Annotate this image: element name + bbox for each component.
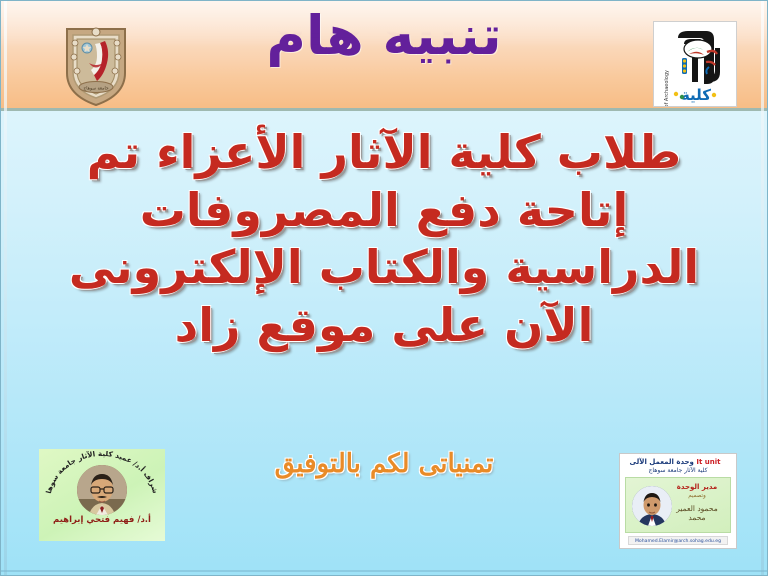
message-line: طلاب كلية الآثار الأعزاء تم xyxy=(19,127,749,179)
it-manager-subrole: وتصميم xyxy=(668,493,726,499)
page-title: تنبيه هام xyxy=(266,9,501,63)
dean-avatar xyxy=(77,465,127,515)
message-line: إتاحة دفع المصروفات xyxy=(19,185,749,237)
svg-text:جامعة سوهاج: جامعة سوهاج xyxy=(83,87,109,92)
frame-border-right xyxy=(761,1,764,575)
it-card-header: It unit وحدة المعمل الآلى كلية الآثار جا… xyxy=(620,454,736,476)
it-manager-avatar xyxy=(632,486,672,526)
frame-border-left xyxy=(4,1,7,575)
it-manager-name: محمود العمير محمد xyxy=(668,504,726,522)
announcement-poster: جامعة سوهاج تنبيه هام تنبيه هام Faculty … xyxy=(0,0,768,576)
message-line: الآن على موقع زاد xyxy=(19,300,749,352)
it-unit-name-en: It unit xyxy=(696,458,720,466)
it-unit-name-ar: وحدة المعمل الآلى xyxy=(630,458,694,466)
it-manager-email: Mohamed.Elamir@arch.sohag.edu.eg xyxy=(628,536,728,545)
dean-name: أ.د/ فهيم فتحي إبراهيم xyxy=(39,515,165,525)
announcement-message: طلاب كلية الآثار الأعزاء تم إتاحة دفع ال… xyxy=(19,127,749,357)
sohag-university-shield-logo: جامعة سوهاج xyxy=(61,23,131,107)
wishes-text: تمنياتى لكم بالتوفيق xyxy=(275,449,494,479)
it-manager-texts: مدير الوحدة وتصميم محمود العمير محمد xyxy=(668,483,726,522)
svg-text:كلية: كلية xyxy=(681,86,711,104)
faculty-of-archaeology-logo: Faculty of Archaeology كلية xyxy=(653,21,737,107)
it-unit-card: It unit وحدة المعمل الآلى كلية الآثار جا… xyxy=(619,453,737,549)
it-unit-title-row: It unit وحدة المعمل الآلى xyxy=(624,458,732,467)
it-faculty-line: كلية الآثار جامعة سوهاج xyxy=(624,467,732,475)
frame-border-bottom xyxy=(1,570,767,572)
svg-text:Faculty of Archaeology: Faculty of Archaeology xyxy=(664,70,670,106)
it-manager-role: مدير الوحدة xyxy=(668,483,726,491)
dean-signature-card: بإشراف أ.د/ عميد كلية الآثار جامعة سوهاج… xyxy=(39,449,165,541)
it-card-body: مدير الوحدة وتصميم محمود العمير محمد xyxy=(625,477,731,533)
message-line: الدراسية والكتاب الإلكترونى xyxy=(19,242,749,294)
